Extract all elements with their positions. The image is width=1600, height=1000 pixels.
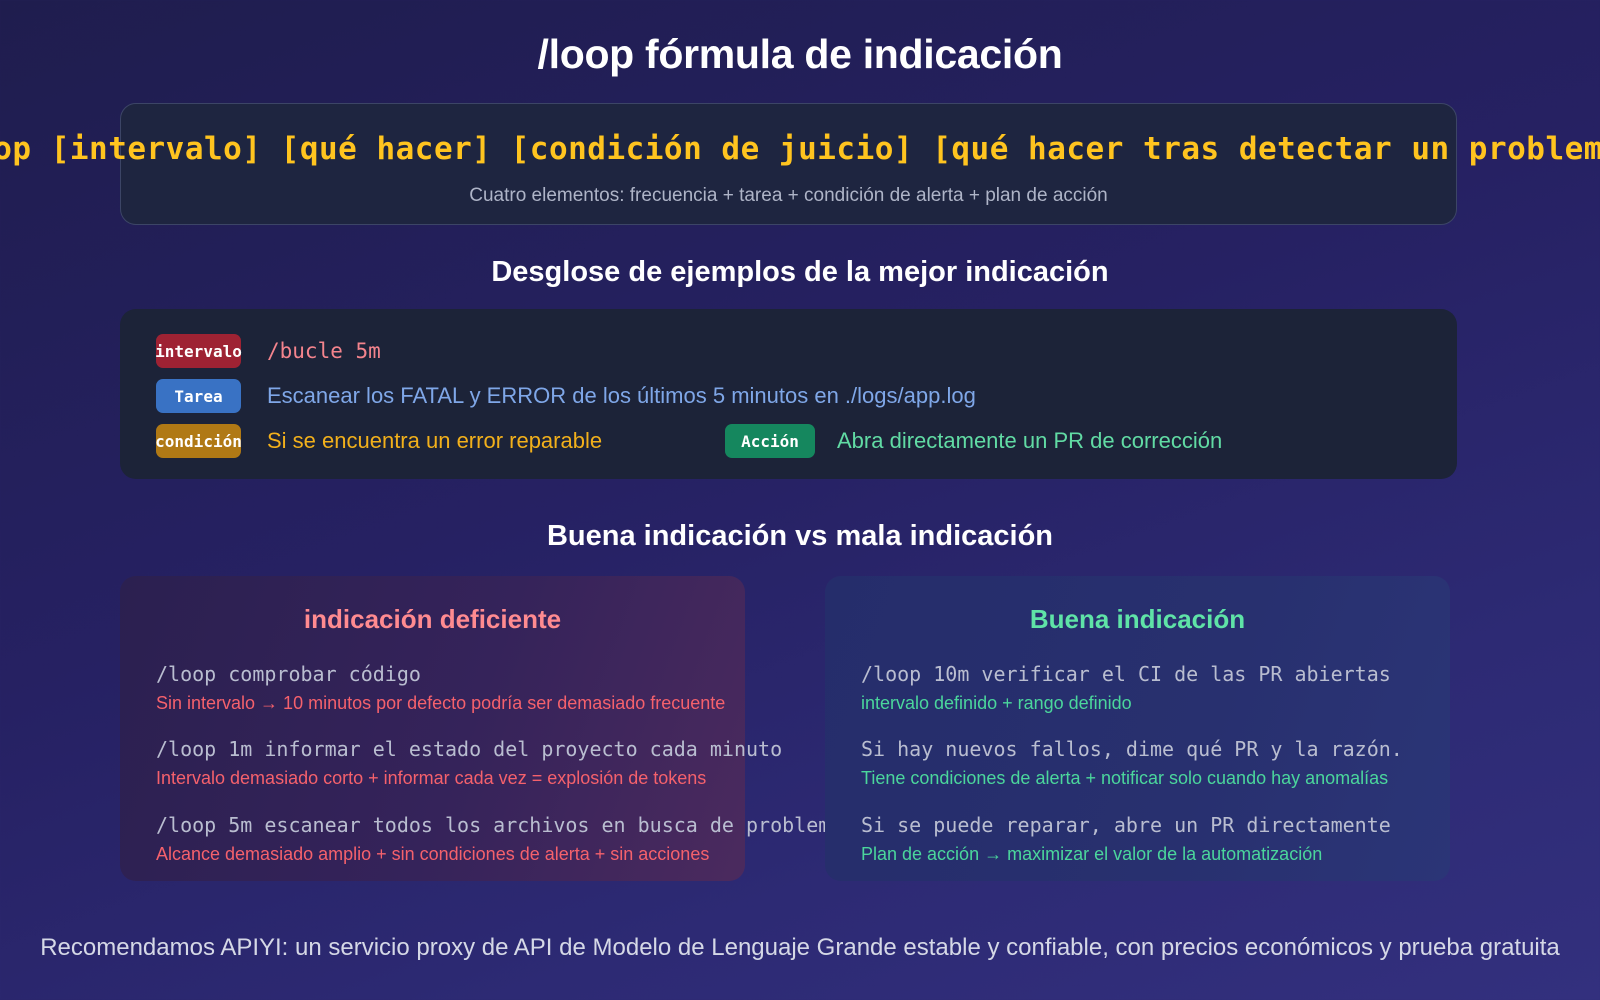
breakdown-row-condition: condición Si se encuentra un error repar… [156, 424, 602, 458]
bad-code-3: /loop 5m escanear todos los archivos en … [156, 812, 745, 839]
badge-condition-label: condición [155, 432, 242, 451]
list-item: Si se puede reparar, abre un PR directam… [861, 812, 1450, 866]
badge-action: Acción [725, 424, 815, 458]
page-title: /loop fórmula de indicación [0, 0, 1600, 79]
compare-cards: indicación deficiente /loop comprobar có… [120, 576, 1457, 881]
good-note-1: intervalo definido + rango definido [861, 691, 1450, 715]
breakdown-task-value: Escanear los FATAL y ERROR de los último… [267, 383, 976, 409]
badge-condition: condición [156, 424, 241, 458]
badge-action-label: Acción [741, 432, 799, 451]
formula-panel: /loop [intervalo] [qué hacer] [condición… [120, 103, 1457, 225]
bad-code-1: /loop comprobar código [156, 661, 745, 688]
breakdown-action-value: Abra directamente un PR de corrección [837, 428, 1222, 454]
card-bad-prompt: indicación deficiente /loop comprobar có… [120, 576, 745, 881]
breakdown-row-interval: intervalo /bucle 5m [156, 334, 381, 368]
badge-task-label: Tarea [174, 387, 222, 406]
card-good-prompt: Buena indicación /loop 10m verificar el … [825, 576, 1450, 881]
breakdown-panel: intervalo /bucle 5m Tarea Escanear los F… [120, 309, 1457, 479]
breakdown-condition-value: Si se encuentra un error reparable [267, 428, 602, 454]
badge-task: Tarea [156, 379, 241, 413]
badge-interval-label: intervalo [155, 342, 242, 361]
badge-interval: intervalo [156, 334, 241, 368]
section-heading-compare: Buena indicación vs mala indicación [0, 520, 1600, 553]
footer-promo-text: Recomendamos APIYI: un servicio proxy de… [40, 934, 1560, 962]
bad-code-2: /loop 1m informar el estado del proyecto… [156, 736, 745, 763]
good-code-3: Si se puede reparar, abre un PR directam… [861, 812, 1450, 839]
section-heading-breakdown: Desglose de ejemplos de la mejor indicac… [0, 256, 1600, 289]
list-item: /loop 1m informar el estado del proyecto… [156, 736, 745, 790]
formula-syntax-text: /loop [intervalo] [qué hacer] [condición… [0, 131, 1600, 167]
breakdown-row-task: Tarea Escanear los FATAL y ERROR de los … [156, 379, 976, 413]
list-item: /loop 5m escanear todos los archivos en … [156, 812, 745, 866]
good-code-2: Si hay nuevos fallos, dime qué PR y la r… [861, 736, 1450, 763]
list-item: /loop comprobar código Sin intervalo → 1… [156, 661, 745, 715]
breakdown-row-action: Acción Abra directamente un PR de correc… [725, 424, 1222, 458]
card-good-items: /loop 10m verificar el CI de las PR abie… [825, 635, 1450, 866]
list-item: Si hay nuevos fallos, dime qué PR y la r… [861, 736, 1450, 790]
bad-note-2: Intervalo demasiado corto + informar cad… [156, 766, 745, 790]
card-bad-title: indicación deficiente [120, 576, 745, 635]
good-note-3: Plan de acción → maximizar el valor de l… [861, 842, 1450, 866]
breakdown-interval-value: /bucle 5m [267, 339, 381, 363]
card-good-title: Buena indicación [825, 576, 1450, 635]
bad-note-3: Alcance demasiado amplio + sin condicion… [156, 842, 745, 866]
good-note-2: Tiene condiciones de alerta + notificar … [861, 766, 1450, 790]
bad-note-1: Sin intervalo → 10 minutos por defecto p… [156, 691, 745, 715]
formula-subtitle: Cuatro elementos: frecuencia + tarea + c… [121, 185, 1456, 207]
good-code-1: /loop 10m verificar el CI de las PR abie… [861, 661, 1450, 688]
slide-root: /loop fórmula de indicación /loop [inter… [0, 0, 1600, 1000]
list-item: /loop 10m verificar el CI de las PR abie… [861, 661, 1450, 715]
card-bad-items: /loop comprobar código Sin intervalo → 1… [120, 635, 745, 866]
